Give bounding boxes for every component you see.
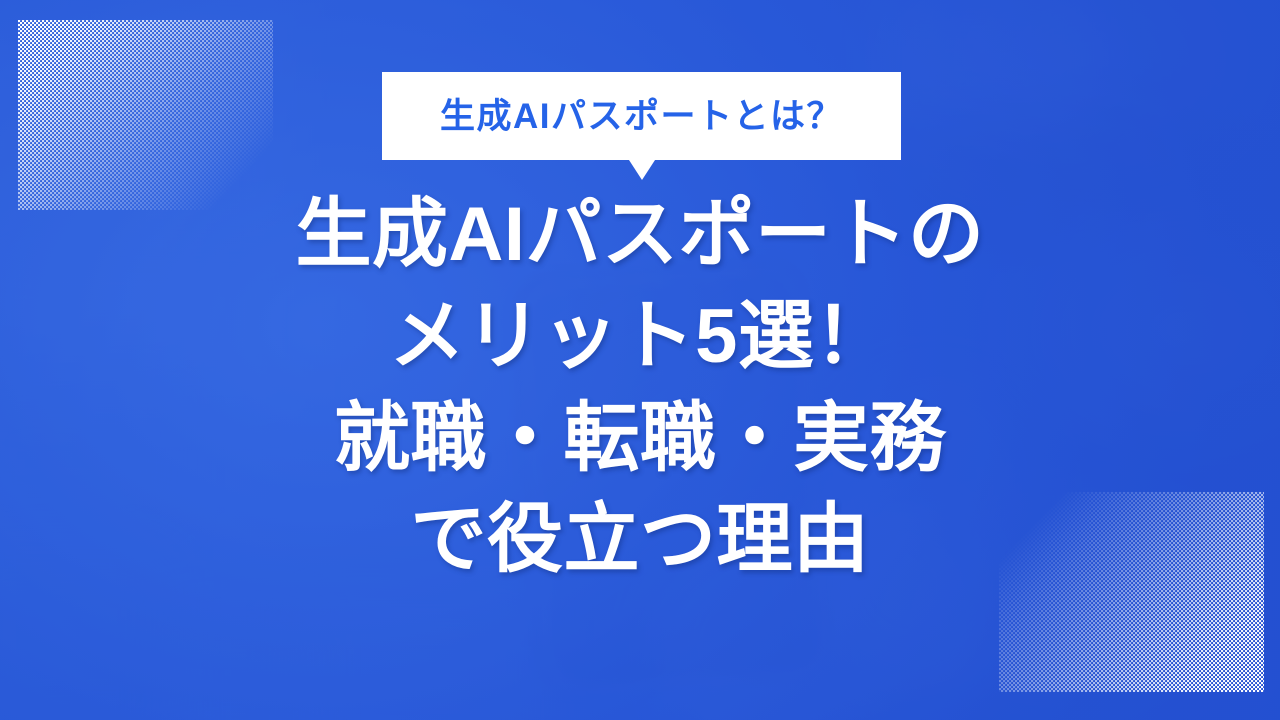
hero-banner: 生成AIパスポートとは？ 生成AIパスポートの メリット5選！ 就職・転職・実務… [0,0,1280,720]
badge: 生成AIパスポートとは？ [382,72,901,160]
halftone-dots-icon [18,20,273,210]
badge-label: 生成AIパスポートとは？ [440,99,843,134]
headline-line-4: で役立つ理由 [0,489,1280,591]
headline-line-3: 就職・転職・実務 [0,388,1280,490]
headline: 生成AIパスポートの メリット5選！ 就職・転職・実務 で役立つ理由 [0,184,1280,591]
headline-line-1: 生成AIパスポートの [0,184,1280,286]
badge-box: 生成AIパスポートとは？ [382,72,901,160]
headline-line-2: メリット5選！ [0,286,1280,388]
badge-tail-icon [629,160,655,180]
